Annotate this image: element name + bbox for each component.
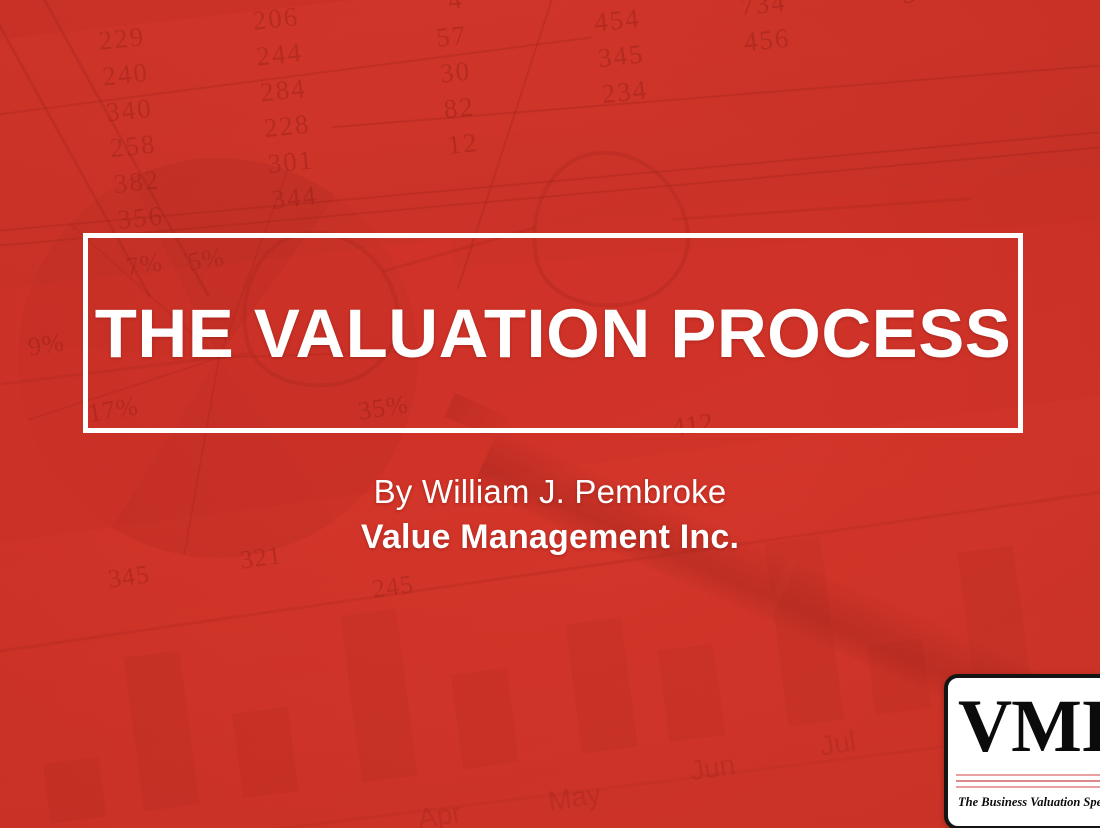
company-line: Value Management Inc. bbox=[0, 514, 1100, 560]
logo-tagline: The Business Valuation Specialist bbox=[958, 794, 1100, 810]
logo-rule-lines bbox=[956, 774, 1100, 792]
logo-rule bbox=[956, 774, 1100, 776]
logo-rule bbox=[956, 786, 1100, 788]
presentation-slide: 01 88 229 240 340 258 382 356 206 244 28… bbox=[0, 0, 1100, 828]
subtitle-block: By William J. Pembroke Value Management … bbox=[0, 470, 1100, 560]
title-frame: THE VALUATION PROCESS bbox=[83, 233, 1023, 433]
page-title: THE VALUATION PROCESS bbox=[95, 299, 1012, 368]
logo-rule bbox=[956, 780, 1100, 782]
author-line: By William J. Pembroke bbox=[0, 470, 1100, 514]
vmi-logo: VMI The Business Valuation Specialist bbox=[944, 674, 1100, 828]
logo-wordmark: VMI bbox=[958, 688, 1100, 766]
